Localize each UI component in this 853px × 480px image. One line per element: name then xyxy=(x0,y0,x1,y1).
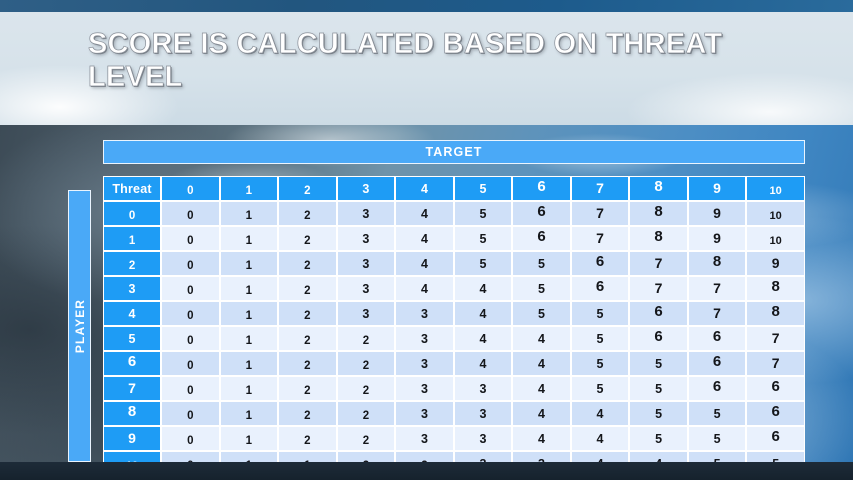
matrix-cell-value: 5 xyxy=(479,232,486,246)
matrix-cell-value: 3 xyxy=(421,332,428,346)
matrix-cell: 2 xyxy=(278,351,337,376)
matrix-cell: 0 xyxy=(161,251,220,276)
matrix-cell-value: 10 xyxy=(770,235,782,247)
matrix-cell-value: 7 xyxy=(772,330,780,346)
table-row: 901223344556 xyxy=(103,426,805,451)
matrix-cell: 8 xyxy=(746,301,805,326)
matrix-cell-value: 3 xyxy=(421,307,428,321)
matrix-col-header-1[interactable]: 1 xyxy=(220,176,279,201)
matrix-cell-value: 4 xyxy=(538,432,545,446)
matrix-cell-value: 8 xyxy=(654,228,662,245)
matrix-cell: 4 xyxy=(395,276,454,301)
matrix-cell: 3 xyxy=(395,426,454,451)
matrix-col-header-6[interactable]: 6 xyxy=(512,176,571,201)
matrix-cell-value: 6 xyxy=(772,428,780,445)
matrix-cell: 1 xyxy=(220,326,279,351)
matrix-cell-value: 3 xyxy=(421,357,428,371)
matrix-col-header-8[interactable]: 8 xyxy=(629,176,688,201)
matrix-row-header-5[interactable]: 5 xyxy=(103,326,161,351)
matrix-corner-label: Threat xyxy=(103,176,161,201)
matrix-cell-value: 4 xyxy=(538,407,545,421)
matrix-cell: 1 xyxy=(220,376,279,401)
matrix-cell-value: 9 xyxy=(713,230,721,246)
matrix-cell-value: 5 xyxy=(597,357,604,371)
matrix-cell: 2 xyxy=(278,376,337,401)
matrix-cell-value: 7 xyxy=(596,230,604,246)
matrix-cell-value: 0 xyxy=(187,310,193,322)
matrix-cell: 0 xyxy=(161,351,220,376)
matrix-cell-value: 2 xyxy=(304,210,310,222)
matrix-cell-value: 5 xyxy=(655,407,662,421)
matrix-cell: 5 xyxy=(512,276,571,301)
matrix-cell-value: 5 xyxy=(538,257,545,271)
table-row: 301234456778 xyxy=(103,276,805,301)
matrix-cell: 6 xyxy=(512,226,571,251)
matrix-cell: 5 xyxy=(629,401,688,426)
matrix-cell: 5 xyxy=(454,226,513,251)
matrix-cell: 2 xyxy=(278,251,337,276)
matrix-cell: 2 xyxy=(337,351,396,376)
matrix-cell-value: 4 xyxy=(538,332,545,346)
matrix-col-header-2[interactable]: 2 xyxy=(278,176,337,201)
matrix-cell-value: 3 xyxy=(479,432,486,446)
matrix-cell: 5 xyxy=(512,251,571,276)
matrix-cell-value: 6 xyxy=(654,328,662,345)
matrix-cell-value: 2 xyxy=(304,235,310,247)
matrix-cell: 1 xyxy=(220,251,279,276)
matrix-cell-value: 1 xyxy=(246,310,252,322)
matrix-row-header-text: 0 xyxy=(129,210,135,222)
matrix-cell: 7 xyxy=(688,301,747,326)
matrix-cell: 0 xyxy=(161,376,220,401)
matrix-cell-value: 8 xyxy=(772,303,780,320)
matrix-cell-value: 2 xyxy=(363,435,369,447)
matrix-col-header-text: 5 xyxy=(479,182,486,196)
matrix-cell: 1 xyxy=(220,351,279,376)
matrix-cell-value: 7 xyxy=(772,355,780,371)
table-row: 801223344556 xyxy=(103,401,805,426)
matrix-col-header-5[interactable]: 5 xyxy=(454,176,513,201)
matrix-cell: 4 xyxy=(571,426,630,451)
matrix-cell: 1 xyxy=(220,276,279,301)
matrix-cell: 6 xyxy=(571,251,630,276)
matrix-cell-value: 5 xyxy=(538,307,545,321)
matrix-cell-value: 1 xyxy=(246,385,252,397)
matrix-cell: 10 xyxy=(746,226,805,251)
matrix-col-header-text: 8 xyxy=(654,178,662,195)
matrix-cell: 7 xyxy=(629,276,688,301)
bottom-band xyxy=(0,462,853,480)
matrix-cell: 8 xyxy=(746,276,805,301)
player-axis-label: PLAYER xyxy=(68,190,91,462)
matrix-cell: 0 xyxy=(161,301,220,326)
matrix-cell-value: 5 xyxy=(655,432,662,446)
matrix-cell: 8 xyxy=(629,201,688,226)
matrix-cell-value: 5 xyxy=(714,432,721,446)
table-row: 601223445567 xyxy=(103,351,805,376)
matrix-cell-value: 0 xyxy=(187,435,193,447)
matrix-cell-value: 4 xyxy=(538,357,545,371)
matrix-cell: 2 xyxy=(278,201,337,226)
matrix-cell-value: 1 xyxy=(246,260,252,272)
matrix-cell: 9 xyxy=(746,251,805,276)
matrix-cell: 5 xyxy=(454,201,513,226)
matrix-cell-value: 4 xyxy=(479,332,486,346)
matrix-row-header-text: 2 xyxy=(129,260,135,272)
matrix-cell: 0 xyxy=(161,276,220,301)
table-row: 501223445667 xyxy=(103,326,805,351)
slide: SCORE IS CALCULATED BASED ON THREAT LEVE… xyxy=(0,0,853,480)
matrix-cell: 3 xyxy=(454,376,513,401)
matrix-cell: 4 xyxy=(395,226,454,251)
matrix-cell-value: 1 xyxy=(246,435,252,447)
matrix-cell: 2 xyxy=(337,326,396,351)
matrix-cell: 10 xyxy=(746,201,805,226)
matrix-cell: 0 xyxy=(161,426,220,451)
matrix-cell: 8 xyxy=(688,251,747,276)
matrix-cell: 2 xyxy=(278,426,337,451)
matrix-cell-value: 6 xyxy=(713,353,721,370)
matrix-cell-value: 1 xyxy=(246,285,252,297)
matrix-cell-value: 3 xyxy=(479,407,486,421)
matrix-cell-value: 5 xyxy=(479,207,486,221)
matrix-row-header-3[interactable]: 3 xyxy=(103,276,161,301)
matrix-cell: 2 xyxy=(337,401,396,426)
matrix-cell: 4 xyxy=(571,401,630,426)
matrix-cell: 5 xyxy=(512,301,571,326)
matrix-cell: 4 xyxy=(454,301,513,326)
matrix-cell-value: 2 xyxy=(304,385,310,397)
matrix-cell: 3 xyxy=(454,426,513,451)
matrix-col-header-text: 9 xyxy=(713,180,721,196)
matrix-cell: 7 xyxy=(688,276,747,301)
matrix-cell: 0 xyxy=(161,401,220,426)
matrix-cell-value: 2 xyxy=(304,260,310,272)
matrix-row-header-4[interactable]: 4 xyxy=(103,301,161,326)
matrix-cell-value: 2 xyxy=(304,410,310,422)
matrix-cell: 1 xyxy=(220,401,279,426)
matrix-cell-value: 6 xyxy=(537,228,545,245)
matrix-cell-value: 2 xyxy=(304,285,310,297)
matrix-cell-value: 0 xyxy=(187,335,193,347)
matrix-cell-value: 5 xyxy=(655,382,662,396)
matrix-cell: 4 xyxy=(454,326,513,351)
matrix-cell-value: 7 xyxy=(596,205,604,221)
matrix-cell: 6 xyxy=(629,301,688,326)
matrix-cell: 6 xyxy=(688,326,747,351)
matrix-cell-value: 3 xyxy=(362,232,369,246)
matrix-cell: 5 xyxy=(454,251,513,276)
matrix-cell-value: 7 xyxy=(713,305,721,321)
matrix-row-header-text: 1 xyxy=(129,235,135,247)
matrix-header-row: Threat012345678910 xyxy=(103,176,805,201)
matrix-cell: 4 xyxy=(512,326,571,351)
matrix-cell: 3 xyxy=(337,251,396,276)
matrix-cell-value: 3 xyxy=(421,407,428,421)
matrix-row-header-text: 6 xyxy=(128,353,136,370)
matrix-cell: 4 xyxy=(512,351,571,376)
matrix-col-header-text: 10 xyxy=(770,185,782,197)
matrix-cell-value: 3 xyxy=(421,432,428,446)
matrix-cell-value: 2 xyxy=(304,435,310,447)
matrix-cell: 3 xyxy=(337,226,396,251)
matrix-cell: 4 xyxy=(395,201,454,226)
matrix-cell: 7 xyxy=(629,251,688,276)
matrix-cell-value: 2 xyxy=(304,310,310,322)
matrix-cell-value: 1 xyxy=(246,335,252,347)
table-row: 0012345678910 xyxy=(103,201,805,226)
matrix-cell: 2 xyxy=(278,276,337,301)
matrix-body: Threat0123456789100012345678910101234567… xyxy=(103,176,805,476)
matrix-row-header-8[interactable]: 8 xyxy=(103,401,161,426)
matrix-cell-value: 7 xyxy=(655,255,663,271)
matrix-cell-value: 4 xyxy=(479,307,486,321)
matrix-cell-value: 7 xyxy=(713,280,721,296)
matrix-cell: 3 xyxy=(395,376,454,401)
matrix-cell-value: 10 xyxy=(770,210,782,222)
matrix-cell: 7 xyxy=(571,201,630,226)
matrix-cell-value: 5 xyxy=(479,257,486,271)
matrix-cell-value: 9 xyxy=(713,205,721,221)
matrix-row-header-2[interactable]: 2 xyxy=(103,251,161,276)
matrix-cell: 8 xyxy=(629,226,688,251)
matrix-cell: 5 xyxy=(571,351,630,376)
matrix-cell: 5 xyxy=(688,401,747,426)
matrix-cell: 1 xyxy=(220,426,279,451)
matrix-col-header-text: 7 xyxy=(596,180,604,196)
matrix-cell-value: 4 xyxy=(479,282,486,296)
matrix-cell: 0 xyxy=(161,226,220,251)
matrix-cell: 9 xyxy=(688,201,747,226)
matrix-cell: 5 xyxy=(571,301,630,326)
matrix-cell: 9 xyxy=(688,226,747,251)
matrix-cell-value: 6 xyxy=(772,403,780,420)
matrix-cell: 4 xyxy=(512,426,571,451)
matrix-cell: 0 xyxy=(161,201,220,226)
matrix-cell: 3 xyxy=(395,326,454,351)
matrix-cell-value: 6 xyxy=(772,378,780,395)
matrix-cell: 7 xyxy=(571,226,630,251)
matrix-cell-value: 6 xyxy=(654,303,662,320)
matrix-cell: 4 xyxy=(454,351,513,376)
matrix-cell-value: 4 xyxy=(479,357,486,371)
matrix-cell: 6 xyxy=(746,426,805,451)
matrix-cell: 6 xyxy=(512,201,571,226)
matrix-cell: 6 xyxy=(746,401,805,426)
matrix-cell-value: 5 xyxy=(538,282,545,296)
matrix-cell: 3 xyxy=(395,301,454,326)
matrix-cell: 3 xyxy=(395,401,454,426)
matrix-cell-value: 3 xyxy=(362,257,369,271)
matrix-cell-value: 6 xyxy=(596,278,604,295)
matrix-cell-value: 4 xyxy=(538,382,545,396)
matrix-cell: 5 xyxy=(571,326,630,351)
matrix-cell-value: 3 xyxy=(362,307,369,321)
matrix-cell-value: 0 xyxy=(187,210,193,222)
matrix-cell-value: 6 xyxy=(596,253,604,270)
matrix-cell: 6 xyxy=(629,326,688,351)
matrix-cell: 2 xyxy=(278,401,337,426)
matrix-cell: 6 xyxy=(688,376,747,401)
matrix-cell-value: 2 xyxy=(363,385,369,397)
matrix-row-header-text: 9 xyxy=(128,430,136,446)
score-matrix-table: Threat0123456789100012345678910101234567… xyxy=(103,176,805,476)
matrix-cell-value: 4 xyxy=(597,407,604,421)
matrix-col-header-text: 2 xyxy=(304,185,310,197)
matrix-cell: 4 xyxy=(512,376,571,401)
matrix-col-header-7[interactable]: 7 xyxy=(571,176,630,201)
matrix-cell: 2 xyxy=(278,301,337,326)
matrix-cell: 3 xyxy=(395,351,454,376)
matrix-cell-value: 3 xyxy=(421,382,428,396)
matrix-cell: 2 xyxy=(337,376,396,401)
matrix-cell: 6 xyxy=(688,351,747,376)
target-axis-label: TARGET xyxy=(103,140,805,164)
matrix-cell-value: 2 xyxy=(363,410,369,422)
matrix-row-header-text: 5 xyxy=(129,332,136,346)
matrix-col-header-4[interactable]: 4 xyxy=(395,176,454,201)
target-axis-label-text: TARGET xyxy=(425,145,482,159)
matrix-cell-value: 5 xyxy=(597,307,604,321)
matrix-cell: 4 xyxy=(395,251,454,276)
matrix-cell-value: 4 xyxy=(421,257,428,271)
matrix-cell: 2 xyxy=(278,226,337,251)
matrix-cell-value: 0 xyxy=(187,285,193,297)
matrix-cell-value: 4 xyxy=(421,232,428,246)
matrix-cell-value: 0 xyxy=(187,410,193,422)
matrix-cell: 3 xyxy=(454,401,513,426)
matrix-row-header-text: 3 xyxy=(129,282,136,296)
matrix-row-header-text: 8 xyxy=(128,403,136,420)
matrix-cell: 3 xyxy=(337,301,396,326)
matrix-cell-value: 3 xyxy=(479,382,486,396)
matrix-col-header-0[interactable]: 0 xyxy=(161,176,220,201)
matrix-cell: 1 xyxy=(220,301,279,326)
matrix-col-header-text: 4 xyxy=(421,182,428,196)
matrix-row-header-1[interactable]: 1 xyxy=(103,226,161,251)
matrix-cell-value: 9 xyxy=(772,255,780,271)
matrix-cell: 5 xyxy=(629,426,688,451)
matrix-col-header-9[interactable]: 9 xyxy=(688,176,747,201)
matrix-cell: 5 xyxy=(629,351,688,376)
matrix-cell: 6 xyxy=(571,276,630,301)
matrix-cell-value: 1 xyxy=(246,235,252,247)
matrix-cell-value: 8 xyxy=(654,203,662,220)
matrix-cell: 5 xyxy=(571,376,630,401)
matrix-cell-value: 2 xyxy=(363,335,369,347)
matrix-cell-value: 6 xyxy=(537,203,545,220)
matrix-cell: 5 xyxy=(688,426,747,451)
matrix-cell: 1 xyxy=(220,201,279,226)
matrix-cell: 2 xyxy=(337,426,396,451)
matrix-cell-value: 3 xyxy=(362,282,369,296)
matrix-cell-value: 2 xyxy=(304,360,310,372)
matrix-cell-value: 5 xyxy=(714,407,721,421)
matrix-cell-value: 6 xyxy=(713,328,721,345)
matrix-cell-value: 7 xyxy=(655,280,663,296)
matrix-cell-value: 8 xyxy=(713,253,721,270)
matrix-col-header-text: 3 xyxy=(362,182,369,196)
matrix-cell: 4 xyxy=(512,401,571,426)
matrix-cell: 0 xyxy=(161,326,220,351)
matrix-cell-value: 0 xyxy=(187,360,193,372)
matrix-cell-value: 5 xyxy=(597,382,604,396)
matrix-cell-value: 2 xyxy=(363,360,369,372)
matrix-row-header-text: 4 xyxy=(129,307,136,321)
matrix-cell: 1 xyxy=(220,226,279,251)
matrix-cell-value: 4 xyxy=(421,207,428,221)
matrix-cell: 2 xyxy=(278,326,337,351)
matrix-cell-value: 8 xyxy=(772,278,780,295)
matrix-col-header-text: 1 xyxy=(246,185,252,197)
matrix-row-header-0[interactable]: 0 xyxy=(103,201,161,226)
matrix-cell: 7 xyxy=(746,326,805,351)
matrix-col-header-text: 6 xyxy=(537,178,545,195)
matrix-col-header-10[interactable]: 10 xyxy=(746,176,805,201)
matrix-cell-value: 5 xyxy=(655,357,662,371)
matrix-cell-value: 1 xyxy=(246,210,252,222)
table-row: 201234556789 xyxy=(103,251,805,276)
matrix-cell: 3 xyxy=(337,201,396,226)
matrix-cell-value: 4 xyxy=(421,282,428,296)
table-row: 1012345678910 xyxy=(103,226,805,251)
top-sky-strip xyxy=(0,0,853,12)
matrix-row-header-text: 7 xyxy=(128,380,136,396)
matrix-cell-value: 3 xyxy=(362,207,369,221)
matrix-cell-value: 1 xyxy=(246,410,252,422)
matrix-row-header-9[interactable]: 9 xyxy=(103,426,161,451)
matrix-cell-value: 6 xyxy=(713,378,721,395)
matrix-col-header-3[interactable]: 3 xyxy=(337,176,396,201)
matrix-cell: 7 xyxy=(746,351,805,376)
table-row: 701223345566 xyxy=(103,376,805,401)
matrix-cell-value: 0 xyxy=(187,235,193,247)
matrix-cell-value: 1 xyxy=(246,360,252,372)
matrix-cell-value: 0 xyxy=(187,260,193,272)
matrix-cell-value: 5 xyxy=(597,332,604,346)
matrix-cell: 5 xyxy=(629,376,688,401)
page-title: SCORE IS CALCULATED BASED ON THREAT LEVE… xyxy=(88,28,728,94)
matrix-cell: 6 xyxy=(746,376,805,401)
matrix-cell-value: 4 xyxy=(597,432,604,446)
table-row: 401233455678 xyxy=(103,301,805,326)
matrix-cell: 3 xyxy=(337,276,396,301)
matrix-col-header-text: 0 xyxy=(187,185,193,197)
matrix-row-header-7[interactable]: 7 xyxy=(103,376,161,401)
matrix-cell-value: 2 xyxy=(304,335,310,347)
matrix-cell: 4 xyxy=(454,276,513,301)
matrix-cell-value: 0 xyxy=(187,385,193,397)
player-axis-label-text: PLAYER xyxy=(73,299,87,353)
matrix-row-header-6[interactable]: 6 xyxy=(103,351,161,376)
